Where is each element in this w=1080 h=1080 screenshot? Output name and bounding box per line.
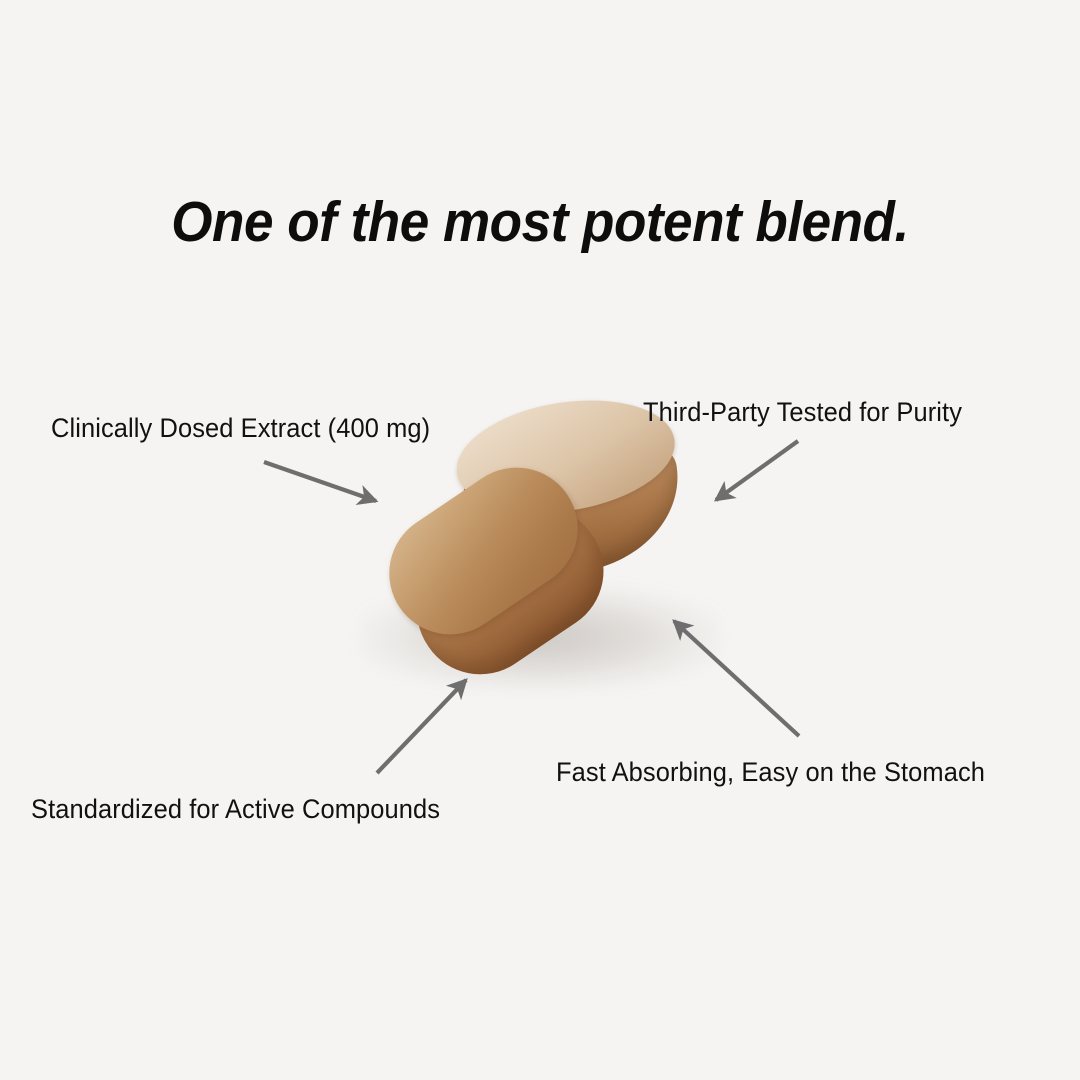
callout-label-fast-absorbing: Fast Absorbing, Easy on the Stomach bbox=[556, 757, 985, 788]
callout-label-clinically-dosed-extract: Clinically Dosed Extract (400 mg) bbox=[51, 413, 430, 444]
callout-label-third-party-tested: Third-Party Tested for Purity bbox=[643, 397, 962, 428]
page-title: One of the most potent blend. bbox=[38, 189, 1042, 255]
product-feature-graphic: One of the most potent blend. bbox=[0, 0, 1080, 1080]
callout-label-standardized-active-compounds: Standardized for Active Compounds bbox=[31, 794, 440, 825]
